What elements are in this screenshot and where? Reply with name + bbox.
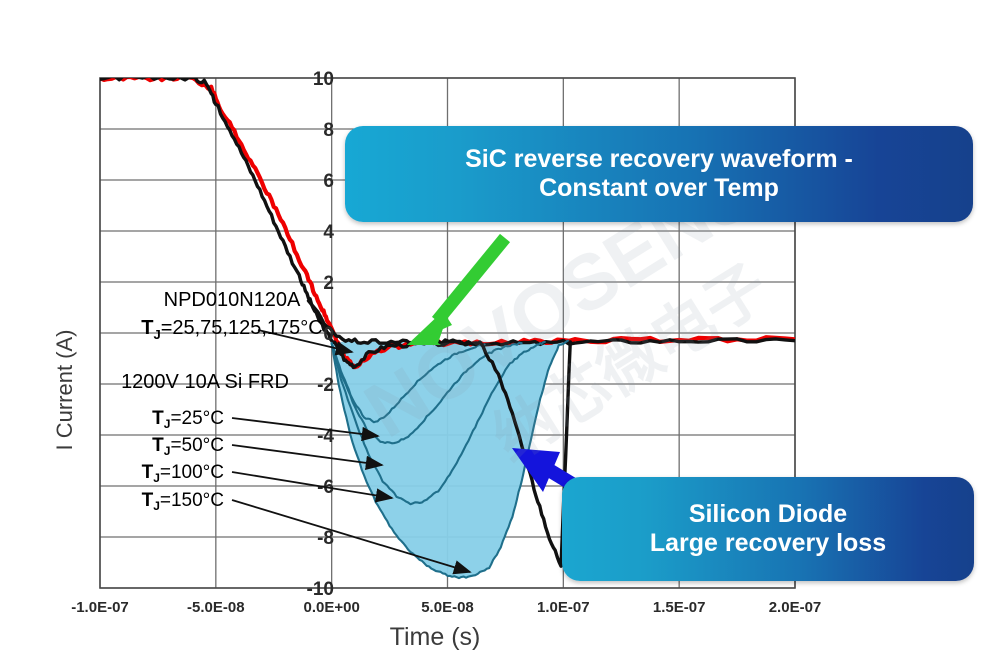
y-tick-label: 10 [313,69,334,90]
callout-silicon-diode[interactable]: Silicon Diode Large recovery loss [562,477,974,581]
x-tick-label: -1.0E-07 [71,599,129,616]
x-axis-tick-labels: -1.0E-07-5.0E-080.0E+005.0E-081.0E-071.5… [71,599,821,616]
y-tick-label: 6 [323,171,334,192]
si-device-label: 1200V 10A Si FRD [121,371,289,393]
temperature-label: TJ=25°C [152,408,224,431]
x-tick-label: 1.0E-07 [537,599,590,616]
callout-sic-reverse-recovery[interactable]: SiC reverse recovery waveform - Constant… [345,126,973,222]
callout-si-line2: Large recovery loss [650,529,886,559]
x-tick-label: -5.0E-08 [187,599,245,616]
y-tick-label: 4 [323,222,334,243]
temperature-label: TJ=50°C [152,435,224,458]
y-axis-title: I Current (A) [52,329,77,450]
y-tick-label: 0 [323,324,334,345]
x-tick-label: 1.5E-07 [653,599,706,616]
callout-si-line1: Silicon Diode [650,500,886,530]
y-tick-label: -2 [317,375,334,396]
y-tick-label: -10 [307,579,334,600]
y-tick-label: 8 [323,120,334,141]
callout-sic-line1: SiC reverse recovery waveform - [465,145,853,175]
x-tick-label: 5.0E-08 [421,599,474,616]
x-axis-title: Time (s) [390,623,481,651]
y-tick-label: 2 [323,273,334,294]
callout-sic-line2: Constant over Temp [465,174,853,204]
sic-temperatures-label: TJ=25,75,125,175°C [141,317,322,342]
x-tick-label: 2.0E-07 [769,599,822,616]
x-tick-label: 0.0E+00 [304,599,360,616]
sic-device-label: NPD010N120A [164,289,301,311]
slide-canvas: 1086420-2-4-6-8-10 -1.0E-07-5.0E-080.0E+… [0,0,1000,672]
y-tick-label: -8 [317,528,334,549]
